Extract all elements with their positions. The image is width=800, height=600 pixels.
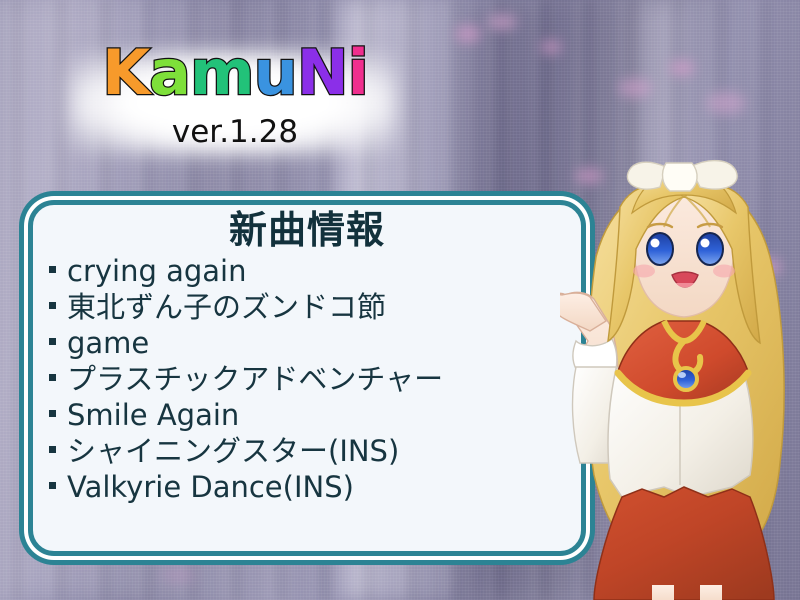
right-eye [697,233,723,265]
logo-letter-i-5: i [348,36,368,109]
song-title: crying again [67,253,246,289]
song-title: 東北ずん子のズンドコ節 [67,289,386,325]
bullet-icon [49,446,56,453]
bullet-icon [49,302,56,309]
left-eye [647,233,673,265]
logo-letter-m-2: m [190,36,254,109]
left-eye-highlight [651,239,660,248]
logo-letter-k-0: K [102,36,149,109]
background-blossom [487,14,517,30]
bullet-icon [49,482,56,489]
logo-letter-n-4: N [297,36,348,109]
song-title: Smile Again [67,397,239,433]
song-list: crying again東北ずん子のズンドコ節gameプラスチックアドベンチャー… [33,251,581,505]
background-blossom [455,25,481,43]
bullet-icon [49,338,56,345]
bullet-icon [49,374,56,381]
logo-letter-u-3: u [254,36,297,109]
song-title: シャイニングスター(INS) [67,433,399,469]
right-leg [700,585,722,600]
background-blossom [540,40,562,54]
song-list-item: crying again [45,253,581,289]
song-title: game [67,325,149,361]
logo-wordmark: KamuNi [60,42,410,104]
panel-title: 新曲情報 [33,211,581,251]
bullet-icon [49,266,56,273]
song-title: プラスチックアドベンチャー [67,361,443,397]
hair-bow-left [627,162,666,189]
left-leg [652,585,674,600]
background-blossom [706,92,746,114]
new-songs-panel: 新曲情報 crying again東北ずん子のズンドコ節gameプラスチックアド… [28,200,586,556]
left-blush [633,265,655,278]
app-screen: KamuNi ver.1.28 新曲情報 crying again東北ずん子のズ… [0,0,800,600]
mascot-character [560,145,800,600]
song-list-item: Valkyrie Dance(INS) [45,469,581,505]
song-list-item: プラスチックアドベンチャー [45,361,581,397]
song-list-item: game [45,325,581,361]
version-label: ver.1.28 [60,114,410,150]
right-blush [713,265,735,278]
background-blossom [669,60,695,76]
logo-letter-a-1: a [149,36,190,109]
song-list-item: Smile Again [45,397,581,433]
song-list-item: 東北ずん子のズンドコ節 [45,289,581,325]
hair-bow-knot [663,163,698,191]
background-blossom [160,566,196,584]
right-eye-highlight [701,239,710,248]
bullet-icon [49,410,56,417]
song-title: Valkyrie Dance(INS) [67,469,354,505]
background-blossom [618,78,652,98]
brooch-gem [675,368,697,390]
skirt [594,487,774,600]
app-logo: KamuNi ver.1.28 [60,36,410,166]
song-list-item: シャイニングスター(INS) [45,433,581,469]
brooch-gem-shine [678,372,686,378]
